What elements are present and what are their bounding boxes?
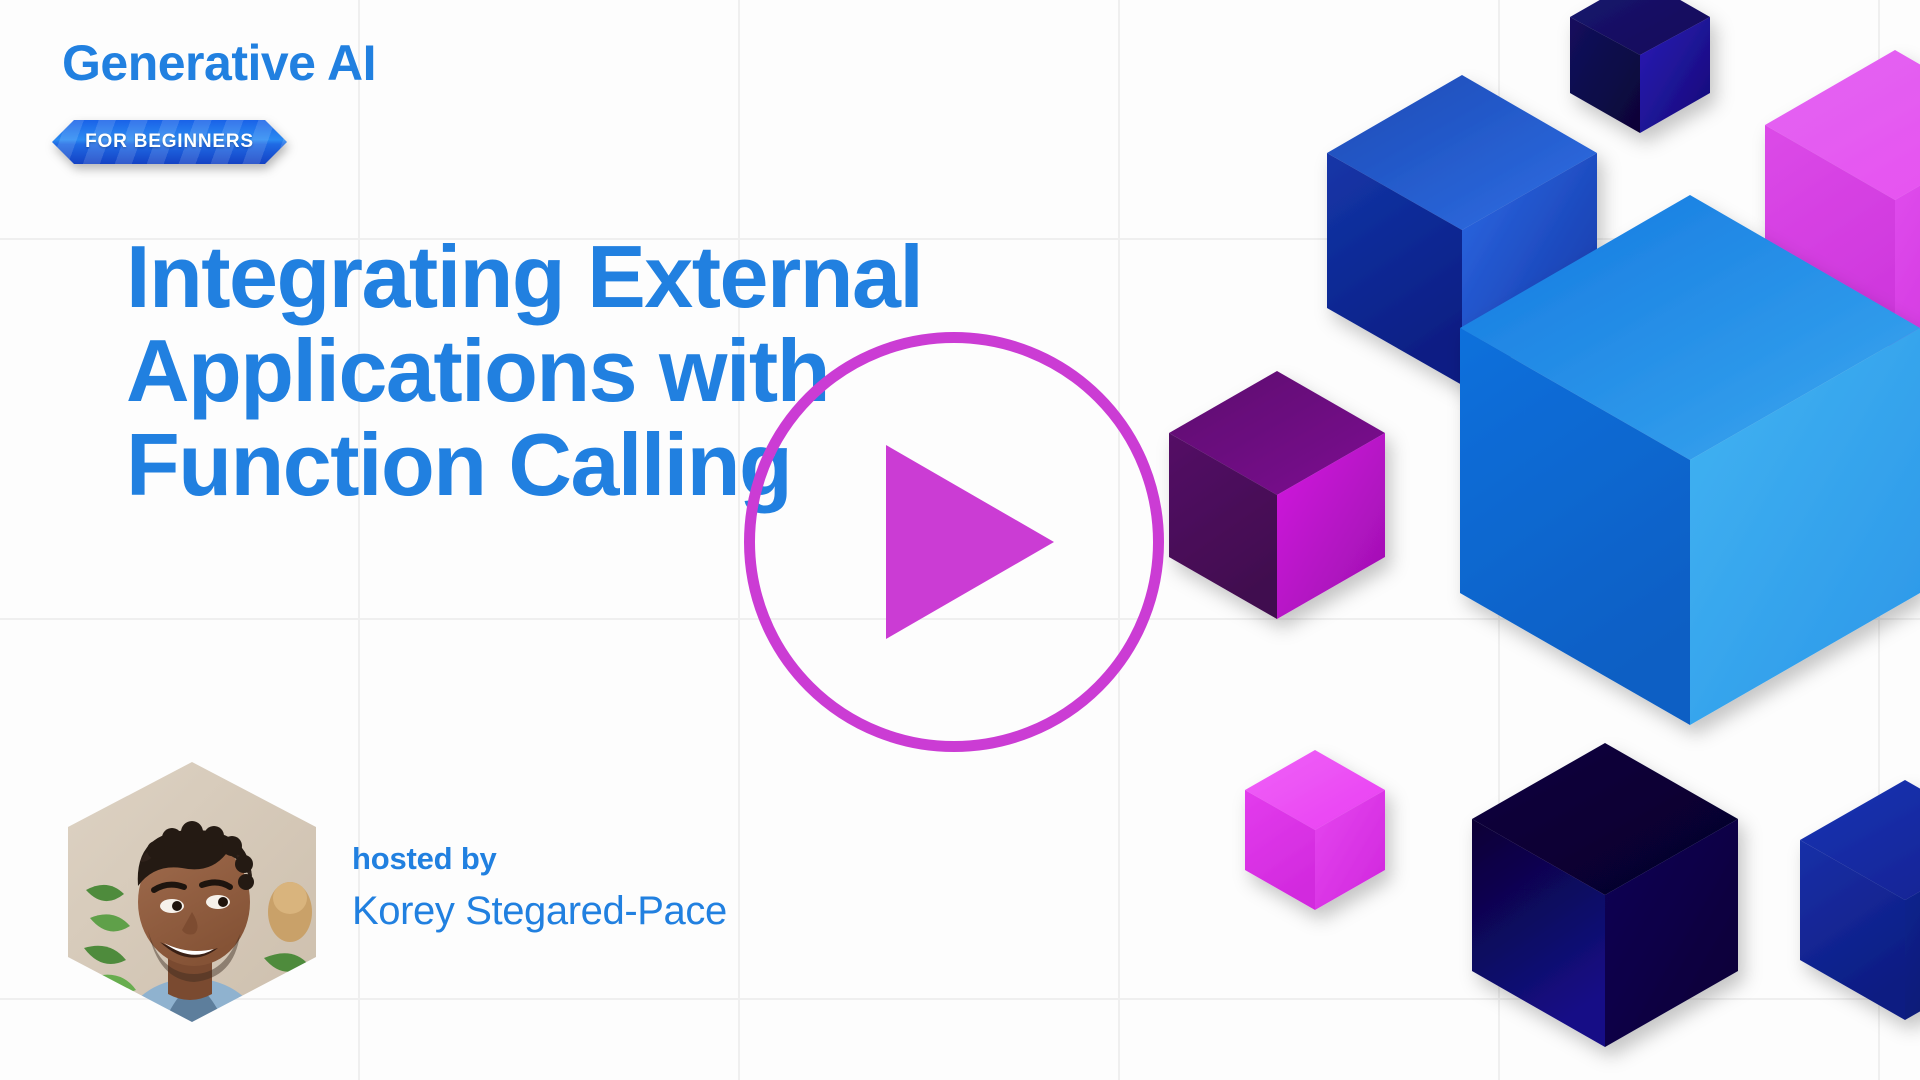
cube-magenta-right xyxy=(1765,50,1920,350)
badge-label: FOR BEGINNERS xyxy=(52,120,287,164)
cube-navy-bottom xyxy=(1472,743,1738,1047)
cube-navy-small-top xyxy=(1570,0,1710,133)
cube-purple-mid xyxy=(1169,371,1385,619)
cube-blue-large-upper xyxy=(1327,75,1597,385)
avatar-portrait-illustration xyxy=(68,762,316,1022)
badge-shape: FOR BEGINNERS xyxy=(52,120,287,164)
cube-blue-huge-center xyxy=(1460,195,1920,725)
play-button[interactable] xyxy=(744,332,1164,752)
host-avatar xyxy=(68,762,316,1022)
hosted-by-label: hosted by xyxy=(352,838,727,880)
cube-navy-right-edge xyxy=(1800,780,1920,1020)
cube-magenta-small xyxy=(1245,750,1385,910)
play-triangle-icon xyxy=(886,445,1054,639)
video-thumbnail-slide: Generative AI FOR BEGINNERS Integrating … xyxy=(0,0,1920,1080)
for-beginners-badge: FOR BEGINNERS xyxy=(52,120,287,164)
host-block: hosted by Korey Stegared-Pace xyxy=(352,838,727,938)
brand-title: Generative AI xyxy=(62,38,376,88)
host-name: Korey Stegared-Pace xyxy=(352,884,727,938)
